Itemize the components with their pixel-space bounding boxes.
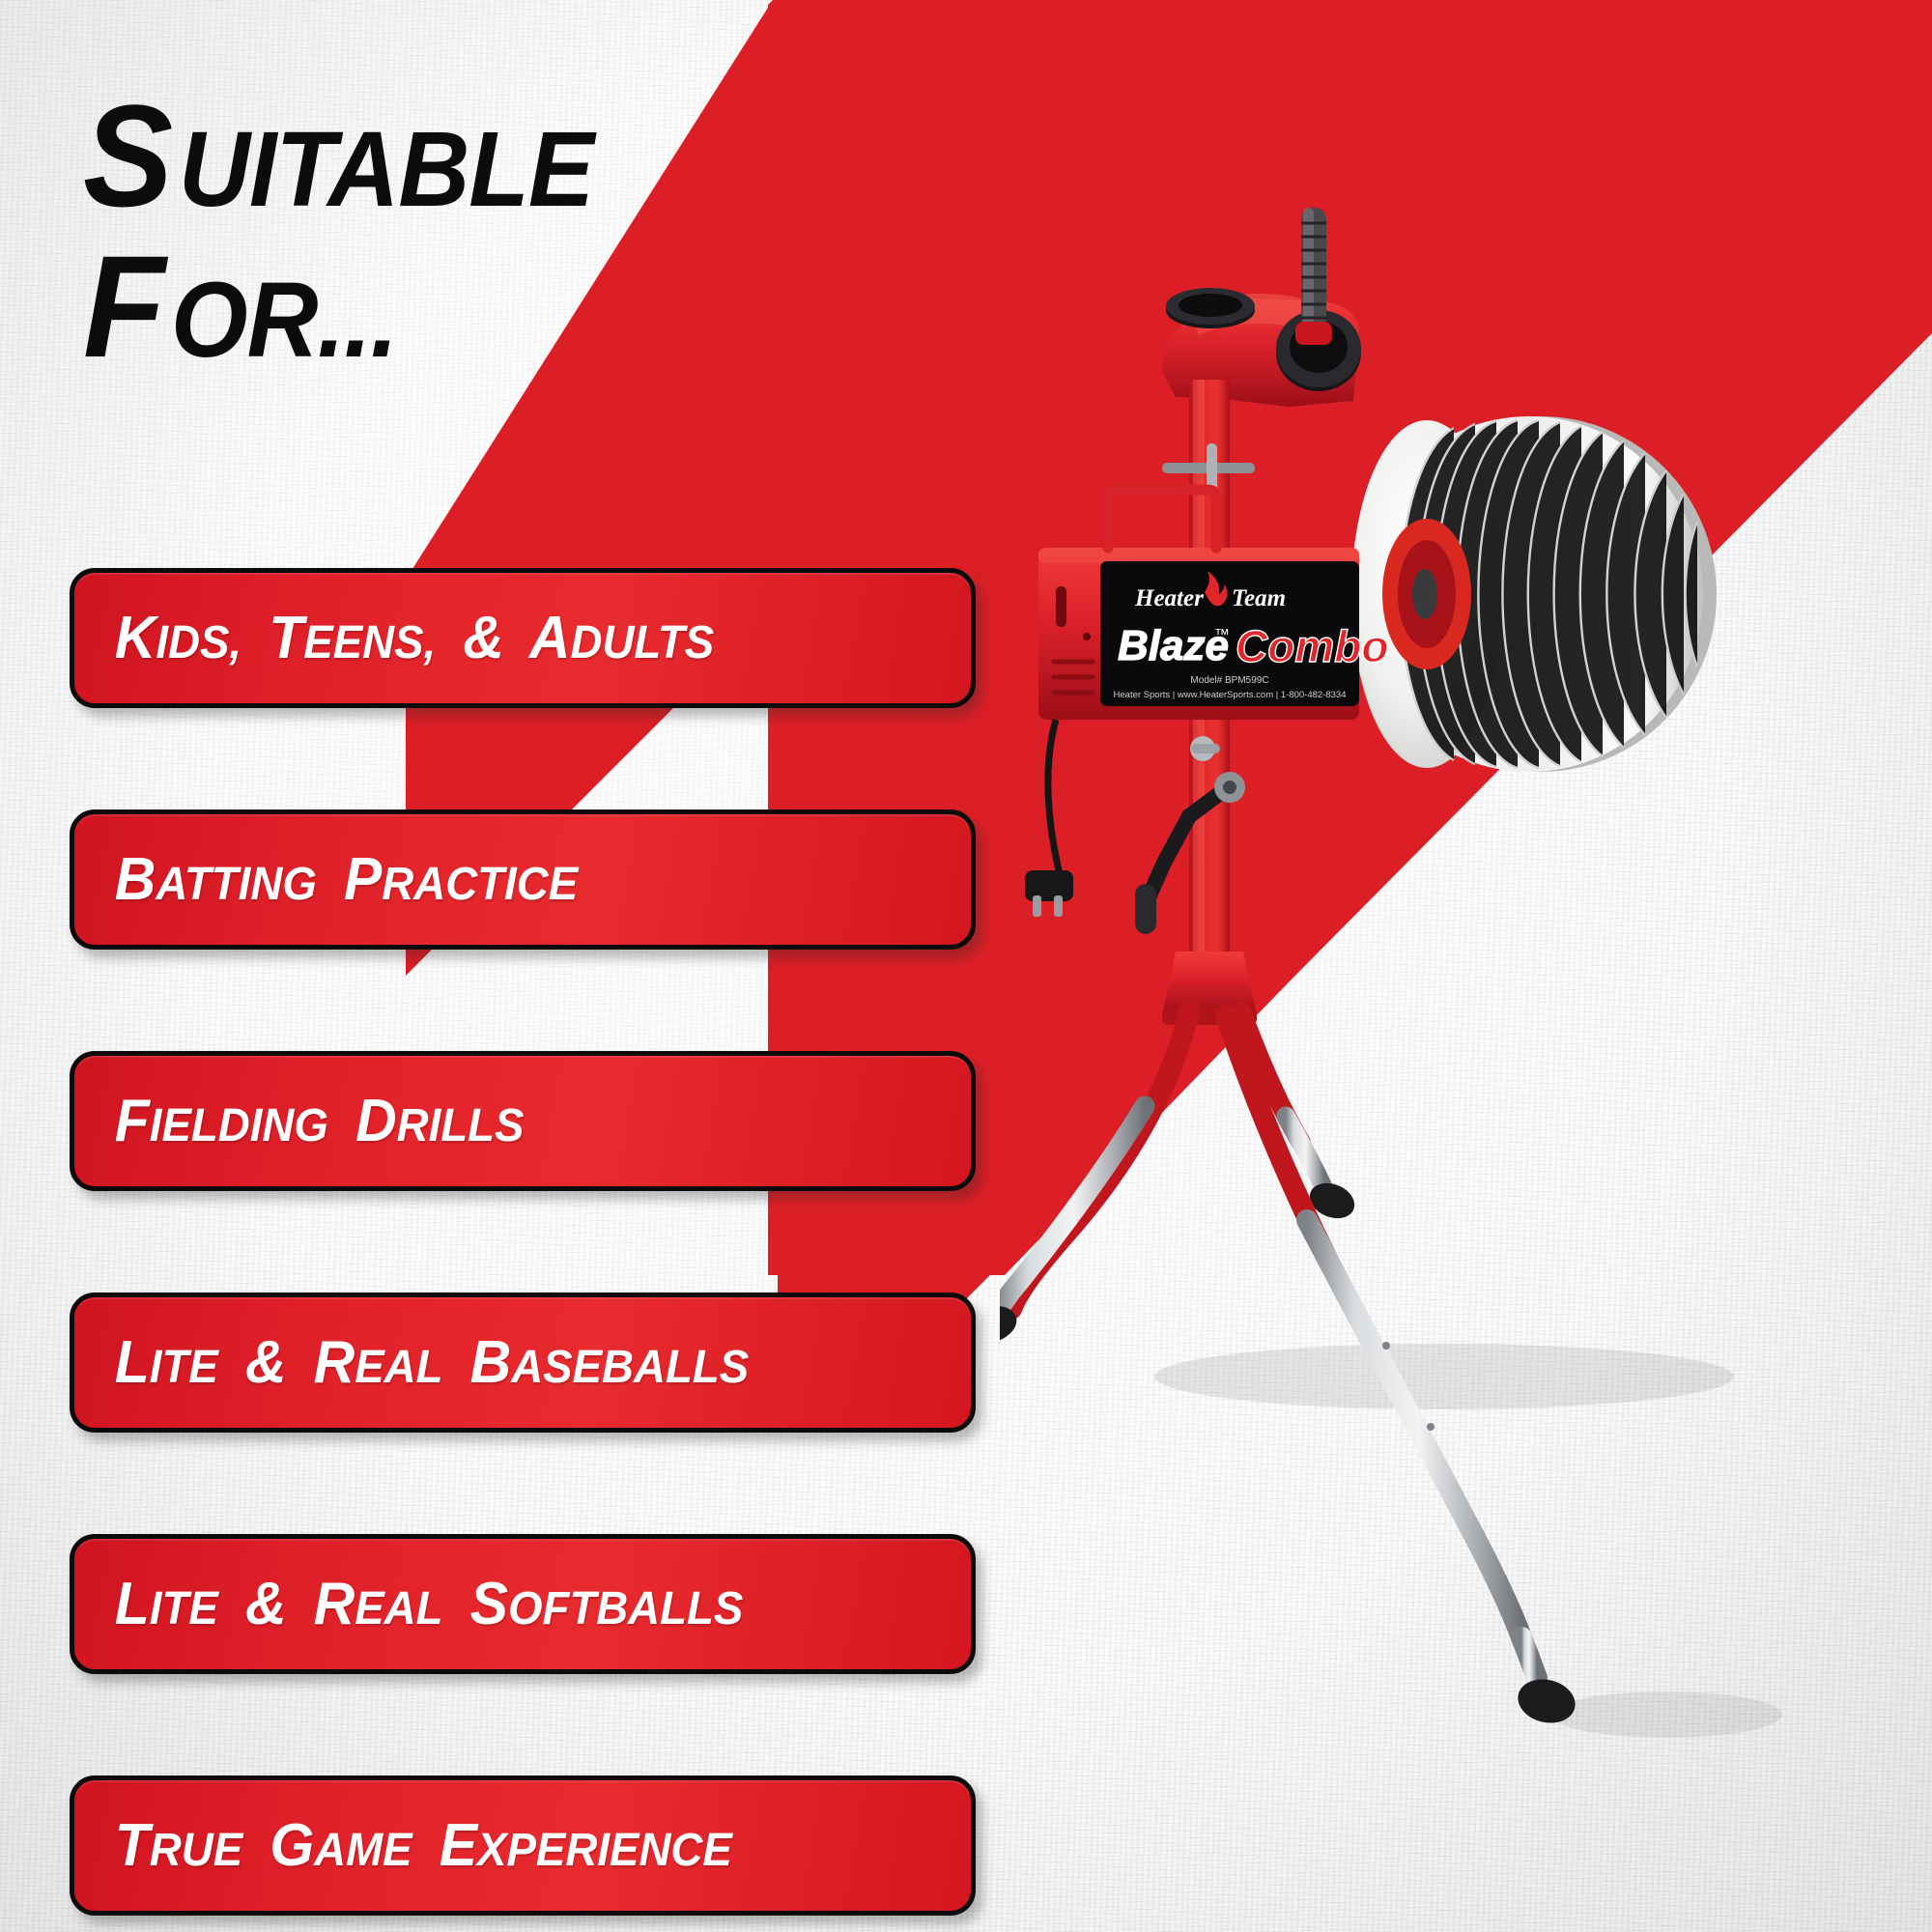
feature-label-cap: R <box>314 1329 355 1396</box>
page-title-line-1: SUITABLE <box>83 89 625 224</box>
feature-button-kids-teens-adults[interactable]: KIDS, TEENS, & ADULTS <box>70 568 976 708</box>
feature-label-cap: P <box>344 846 382 913</box>
feature-label-smallcaps: XPERIENCE <box>477 1825 732 1876</box>
feature-label-smallcaps: IELDING <box>150 1100 328 1151</box>
feature-label-smallcaps: EENS, <box>303 617 436 668</box>
nameplate-model-number: Model# BPM599C <box>1190 675 1268 686</box>
feature-label-cap: K <box>115 605 156 671</box>
feature-label-cap: G <box>270 1812 314 1879</box>
feature-label-smallcaps: RACTICE <box>382 859 578 910</box>
feature-button-true-game-experience[interactable]: TRUE GAME EXPERIENCE <box>70 1776 976 1916</box>
nameplate-model-blaze: Blaze <box>1118 622 1229 669</box>
product-image-blaze-combo-pitching-machine: Heater Team Blaze ™ Combo Model# BPM599C… <box>1000 208 1932 1802</box>
ball-feed-chute <box>1162 208 1361 407</box>
page-title-line-1-cap: S <box>83 89 172 224</box>
tripod-leg-front-left <box>1000 1011 1189 1349</box>
feature-label-cap: S <box>470 1571 508 1637</box>
feature-button-batting-practice[interactable]: BATTING PRACTICE <box>70 810 976 950</box>
nameplate-brand-team: Team <box>1232 585 1286 611</box>
feature-button-lite-real-softballs[interactable]: LITE & REAL SOFTBALLS <box>70 1534 976 1674</box>
page-title-line-2-cap: F <box>83 240 164 375</box>
feature-label-smallcaps: RUE <box>150 1825 242 1876</box>
page-title-line-2: FOR... <box>83 240 625 375</box>
feature-label-smallcaps: ITE <box>150 1342 218 1393</box>
nameplate-model-combo: Combo <box>1236 621 1388 671</box>
feature-label-cap: A <box>529 605 571 671</box>
feature-label-cap: T <box>115 1812 150 1879</box>
nameplate-brand-heater: Heater <box>1134 585 1204 611</box>
feature-label-smallcaps: ATTING <box>156 859 316 910</box>
product-nameplate: Heater Team Blaze ™ Combo Model# BPM599C… <box>1100 561 1388 706</box>
power-cord <box>1025 720 1073 917</box>
feature-label-smallcaps: OFTBALLS <box>508 1583 743 1634</box>
feature-label-cap: E <box>440 1812 477 1879</box>
feature-button-label: LITE & REAL BASEBALLS <box>74 1328 749 1397</box>
page-title: SUITABLE FOR... <box>83 89 625 374</box>
nameplate-contact: Heater Sports | www.HeaterSports.com | 1… <box>1114 690 1347 700</box>
feature-label-cap: L <box>115 1571 150 1637</box>
feature-label-cap: L <box>115 1329 150 1396</box>
nameplate-trademark: ™ <box>1214 627 1230 643</box>
pitching-wheel <box>1351 416 1717 772</box>
feature-label-smallcaps: DULTS <box>570 617 714 668</box>
feature-label-cap: F <box>115 1088 150 1154</box>
feature-label-cap: B <box>115 846 156 913</box>
page-title-line-1-rest: UITABLE <box>179 121 593 219</box>
feature-label-smallcaps: IDS, <box>156 617 241 668</box>
feature-label-cap: R <box>314 1571 355 1637</box>
feature-label-smallcaps: EAL <box>355 1583 442 1634</box>
page-title-line-2-rest: OR... <box>171 271 397 370</box>
feature-label-cap: D <box>355 1088 397 1154</box>
feature-button-label: BATTING PRACTICE <box>74 845 578 914</box>
feature-button-label: LITE & REAL SOFTBALLS <box>74 1570 743 1638</box>
feature-button-fielding-drills[interactable]: FIELDING DRILLS <box>70 1051 976 1191</box>
feature-label-cap: & <box>245 1571 287 1637</box>
feature-button-label: TRUE GAME EXPERIENCE <box>74 1811 732 1880</box>
feature-label-cap: & <box>245 1329 287 1396</box>
feature-label-cap: T <box>269 605 303 671</box>
feature-button-label: KIDS, TEENS, & ADULTS <box>74 604 714 672</box>
feature-label-smallcaps: ITE <box>150 1583 218 1634</box>
feature-list: KIDS, TEENS, & ADULTSBATTING PRACTICEFIE… <box>70 568 976 1916</box>
feature-label-smallcaps: AME <box>314 1825 412 1876</box>
feature-label-smallcaps: EAL <box>355 1342 442 1393</box>
feature-button-lite-real-baseballs[interactable]: LITE & REAL BASEBALLS <box>70 1293 976 1433</box>
feature-label-smallcaps: ASEBALLS <box>511 1342 749 1393</box>
feature-label-smallcaps: RILLS <box>397 1100 525 1151</box>
feature-button-label: FIELDING DRILLS <box>74 1087 524 1155</box>
feature-label-cap: & <box>463 605 504 671</box>
feature-label-cap: B <box>470 1329 512 1396</box>
